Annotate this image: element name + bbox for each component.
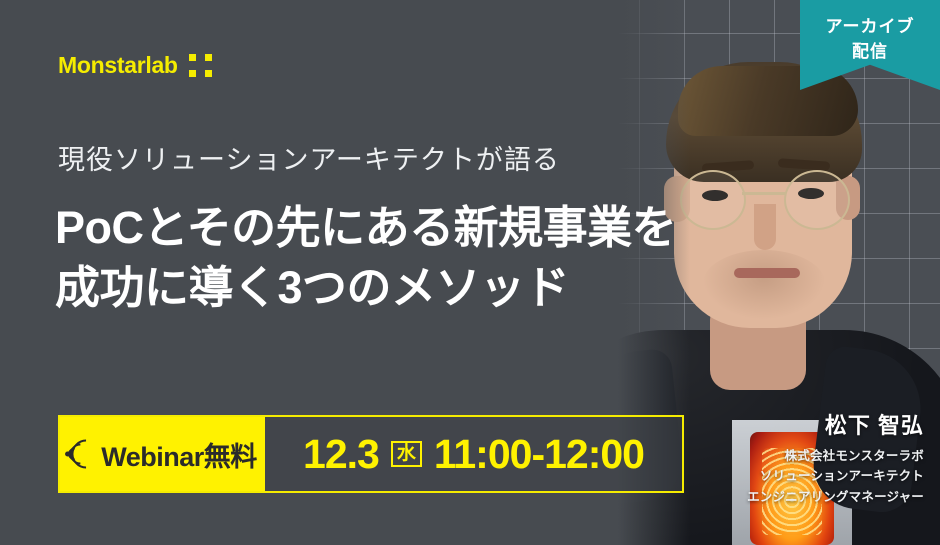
- logo-dot: [189, 54, 196, 61]
- archive-ribbon-line1: アーカイブ: [800, 15, 940, 40]
- logo-dot: [205, 54, 212, 61]
- archive-ribbon-line2: 配信: [800, 40, 940, 65]
- schedule-bar: Webinar無料 12.3 水 11:00-12:00: [58, 415, 684, 493]
- schedule-datetime: 12.3 水 11:00-12:00: [265, 417, 682, 491]
- speaker-role-2: エンジニアリングマネージャー: [747, 487, 924, 507]
- speaker-company: 株式会社モンスターラボ: [747, 446, 924, 466]
- logo-dot: [205, 70, 212, 77]
- page-title: PoCとその先にある新規事業を 成功に導く3つのメソッド: [55, 198, 735, 318]
- webinar-banner: アーカイブ 配信 Monstarlab 現役ソリューションアーキテクトが語る P…: [0, 0, 940, 545]
- mouth-shape: [734, 268, 800, 278]
- glasses-lens-right: [784, 170, 850, 230]
- speaker-info: 松下 智弘 株式会社モンスターラボ ソリューションアーキテクト エンジニアリング…: [747, 408, 924, 507]
- brand-logo-text: Monstarlab: [58, 52, 178, 79]
- speaker-role-1: ソリューションアーキテクト: [747, 466, 924, 486]
- schedule-date: 12.3: [303, 431, 379, 478]
- schedule-day-of-week: 水: [391, 441, 422, 468]
- four-dots-icon: [189, 54, 212, 77]
- speaker-affiliation: 株式会社モンスターラボ ソリューションアーキテクト エンジニアリングマネージャー: [747, 446, 924, 507]
- speaker-name: 松下 智弘: [747, 408, 924, 440]
- headline-line-1: PoCとその先にある新規事業を: [55, 198, 735, 258]
- nose-shape: [754, 204, 776, 250]
- glasses-bridge: [742, 192, 786, 195]
- schedule-time-range: 11:00-12:00: [434, 431, 644, 478]
- eyebrow-text: 現役ソリューションアーキテクトが語る: [58, 138, 560, 177]
- archive-ribbon-text: アーカイブ 配信: [800, 15, 940, 64]
- webinar-free-label: Webinar無料: [101, 435, 257, 474]
- headline-line-2: 成功に導く3つのメソッド: [55, 258, 735, 318]
- wifi-icon: [63, 436, 100, 473]
- webinar-free-badge: Webinar無料: [60, 417, 265, 491]
- brand-logo: Monstarlab: [58, 52, 212, 79]
- logo-dot: [189, 70, 196, 77]
